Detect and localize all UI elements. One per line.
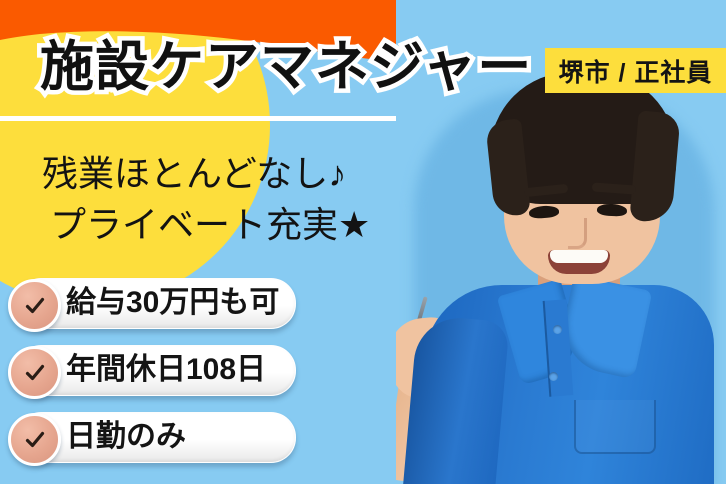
photo-button-top [553,325,562,334]
photo-mouth [548,250,610,274]
feature-pill: 年間休日108日 [8,345,294,394]
check-icon [8,413,61,466]
photo-nose [568,218,587,249]
location-employment-badge: 堺市 / 正社員 [545,48,726,93]
check-icon [8,279,61,332]
feature-pill: 日勤のみ [8,412,294,461]
page-title: 施設ケアマネジャー [40,36,532,98]
photo-eye-right [597,203,628,217]
subtitle-line-1: 残業ほとんどなし♪ [42,148,370,199]
feature-pill-label: 年間休日108日 [66,345,266,394]
photo-button-bottom [549,372,558,381]
job-ad-banner: 堺市 / 正社員 施設ケアマネジャー 残業ほとんどなし♪ プライベート充実★ 給… [0,0,726,484]
feature-pill: 給与30万円も可 [8,278,294,327]
feature-pill-label: 日勤のみ [66,412,186,461]
feature-pill-label: 給与30万円も可 [66,278,279,327]
photo-teeth [550,250,608,263]
photo-chest-pocket [574,400,656,454]
subtitle-block: 残業ほとんどなし♪ プライベート充実★ [42,148,370,250]
subtitle-line-2: プライベート充実★ [50,199,370,250]
badge-label: 堺市 / 正社員 [559,53,713,89]
check-icon [8,346,61,399]
feature-list: 給与30万円も可 年間休日108日 日勤のみ [8,278,294,479]
